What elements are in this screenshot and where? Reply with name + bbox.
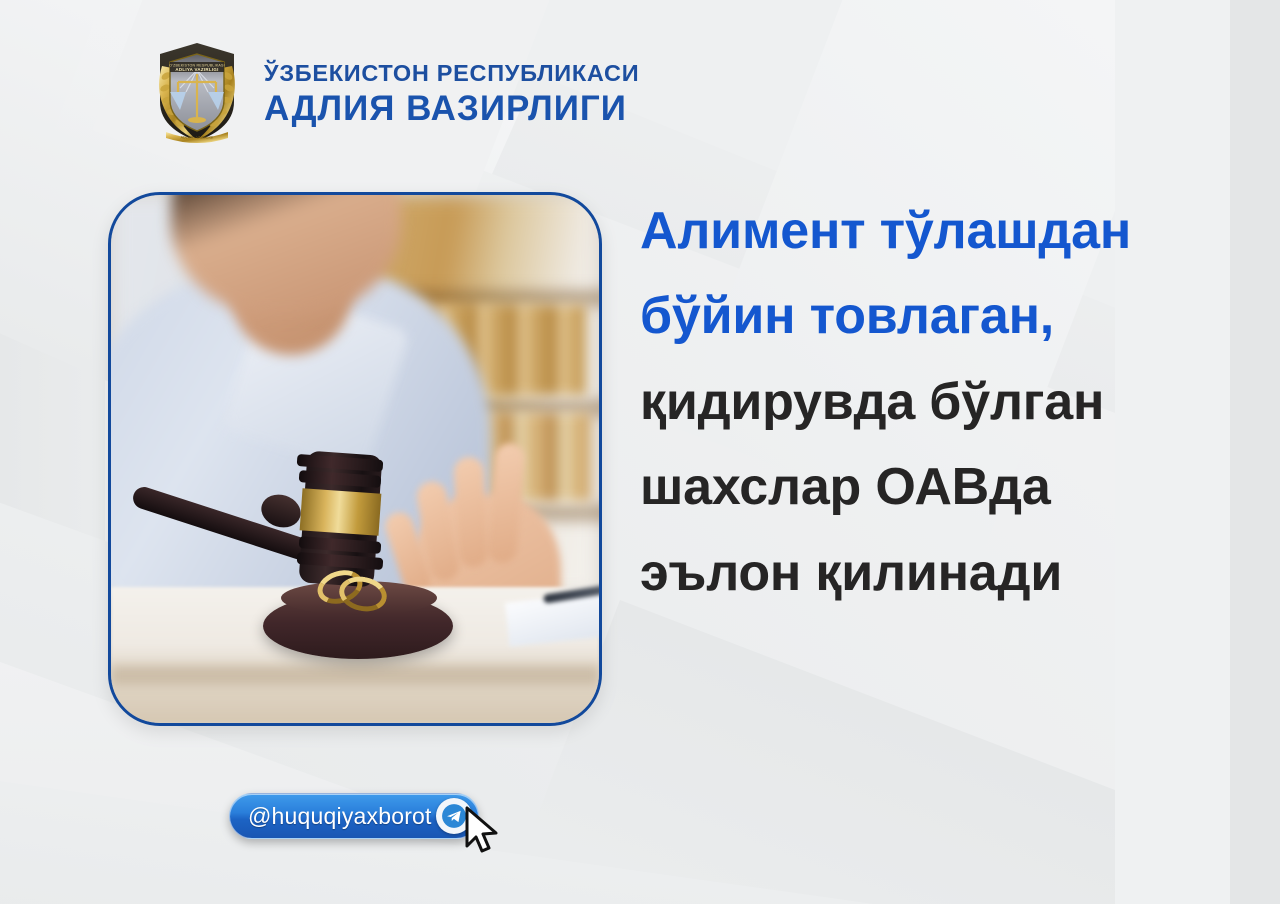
svg-text:ADLIYA VAZIRLIGI: ADLIYA VAZIRLIGI <box>175 67 218 72</box>
headline-line-2: бўйин товлаган, <box>640 285 1240 348</box>
headline-line-1: Алимент тўлашдан <box>640 200 1240 263</box>
telegram-channel-badge[interactable]: @huquqiyaxborot <box>229 793 479 839</box>
svg-text:ADLIYA • VAZIRLIGI: ADLIYA • VAZIRLIGI <box>181 136 214 140</box>
ministry-republic-label: ЎЗБЕКИСТОН РЕСПУБЛИКАСИ <box>264 62 639 86</box>
telegram-handle-label: @huquqiyaxborot <box>248 803 436 830</box>
poster-root: O‘ZBEKISTON RESPUBLIKASI ADLIYA VAZIRLIG… <box>0 0 1280 904</box>
ministry-emblem-icon: O‘ZBEKISTON RESPUBLIKASI ADLIYA VAZIRLIG… <box>148 40 246 148</box>
ministry-name-label: АДЛИЯ ВАЗИРЛИГИ <box>264 91 639 126</box>
headline-line-3: қидирувда бўлган <box>640 371 1240 434</box>
headline-block: Алимент тўлашдан бўйин товлаган, қидирув… <box>640 200 1240 627</box>
mouse-pointer-icon <box>463 806 507 858</box>
headline-line-5: эълон қилинади <box>640 542 1240 605</box>
illustration-photo <box>108 192 602 726</box>
headline-line-4: шахслар ОАВда <box>640 456 1240 519</box>
header: O‘ZBEKISTON RESPUBLIKASI ADLIYA VAZIRLIG… <box>148 40 639 148</box>
